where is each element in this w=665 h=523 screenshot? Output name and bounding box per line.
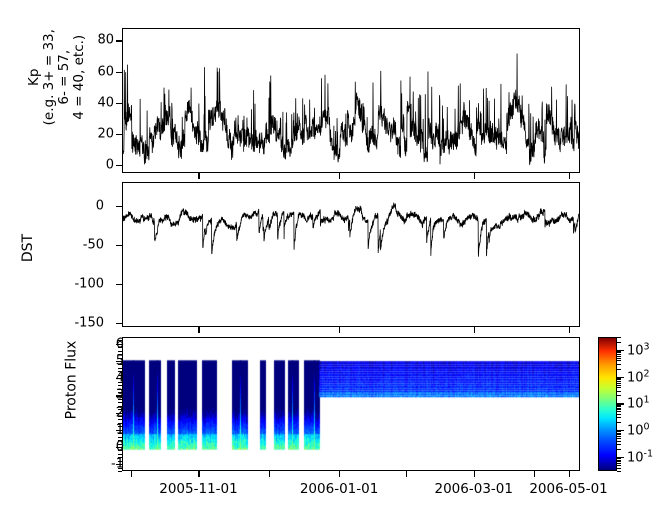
flux-ytick-minor: [118, 471, 122, 472]
colorbar-minor-tick: [617, 408, 621, 409]
colorbar-tick-label: 103: [627, 341, 650, 358]
kp-line: [123, 54, 579, 165]
colorbar-minor-tick: [617, 351, 621, 352]
colorbar-tick-label: 100: [627, 422, 650, 439]
flux-ytick-minor: [118, 368, 122, 369]
flux-ytick-mark: [116, 430, 122, 431]
colorbar-minor-tick: [617, 463, 621, 464]
flux-ytick-minor: [118, 437, 122, 438]
colorbar-minor-tick: [617, 441, 621, 442]
flux-ytick-minor: [118, 375, 122, 376]
flux-ytick-minor: [118, 461, 122, 462]
kp-ytick-mark: [116, 165, 122, 166]
kp-ytick-label: 0: [106, 159, 114, 172]
dst-axis-title: DST: [20, 234, 36, 262]
colorbar-minor-tick: [617, 434, 621, 435]
kp-ytick-mark: [116, 72, 122, 73]
colorbar-minor-tick: [617, 471, 621, 472]
x-tick-mark: [406, 471, 407, 477]
colorbar-minor-tick: [617, 381, 621, 382]
kp-ytick-mark: [116, 40, 122, 41]
flux-ytick-mark: [116, 464, 122, 465]
colorbar-minor-tick: [617, 438, 621, 439]
dst-ytick-mark: [116, 245, 122, 246]
flux-ytick-mark: [116, 447, 122, 448]
colorbar-minor-tick: [617, 405, 621, 406]
flux-ytick-minor: [118, 389, 122, 390]
flux-ytick-minor: [118, 385, 122, 386]
colorbar-minor-tick: [617, 444, 621, 445]
x-tick-mark: [269, 471, 270, 477]
dst-ytick-label: 0: [96, 199, 104, 212]
kp-ytick-mark: [116, 103, 122, 104]
colorbar-gradient: [598, 337, 617, 471]
colorbar-tick-label: 10-1: [627, 448, 653, 465]
colorbar-minor-tick: [617, 387, 621, 388]
colorbar-minor-tick: [617, 465, 621, 466]
flux-ytick-minor: [118, 423, 122, 424]
dst-ytick-label: -150: [74, 317, 104, 330]
x-tick-label: 2005-11-01: [159, 481, 237, 497]
flux-ytick-minor: [118, 457, 122, 458]
colorbar-minor-tick: [617, 409, 621, 410]
colorbar-minor-tick: [617, 383, 621, 384]
kp-axis-title-line-3: 4 = 40, etc.): [72, 17, 87, 137]
colorbar-minor-tick: [617, 395, 621, 396]
x-tick-mark: [131, 471, 132, 477]
x-tick-label: 2006-01-01: [300, 481, 378, 497]
interpanel-tick-mark: [198, 173, 199, 179]
colorbar-minor-tick: [617, 354, 621, 355]
x-tick-mark: [198, 471, 199, 477]
flux-ytick-minor: [118, 364, 122, 365]
colorbar-minor-tick: [617, 358, 621, 359]
proton-flux-spectrogram: [123, 338, 580, 471]
dst-ytick-label: -100: [74, 277, 104, 290]
colorbar-minor-tick: [617, 385, 621, 386]
flux-ytick-minor: [118, 392, 122, 393]
interpanel-tick-mark: [569, 173, 570, 179]
kp-axis-title: Kp (e.g. 3+ = 33, 6- = 57, 4 = 40, etc.): [27, 17, 87, 137]
interpanel-tick-mark: [474, 327, 475, 333]
interpanel-tick-mark: [339, 327, 340, 333]
x-tick-mark: [569, 471, 570, 477]
flux-ytick-mark: [116, 361, 122, 362]
colorbar-minor-tick: [617, 364, 621, 365]
flux-ytick-minor: [118, 440, 122, 441]
flux-ytick-minor: [118, 409, 122, 410]
kp-axis-title-line-2: 6- = 57,: [57, 17, 72, 137]
kp-ytick-label: 20: [97, 128, 114, 141]
kp-ytick-label: 40: [97, 96, 114, 109]
panel-flux: [122, 337, 580, 471]
x-tick-mark: [339, 471, 340, 477]
kp-ytick-label: 60: [97, 65, 114, 78]
kp-ytick-mark: [116, 134, 122, 135]
flux-ytick-minor: [118, 347, 122, 348]
flux-ytick-minor: [118, 371, 122, 372]
colorbar-minor-tick: [617, 414, 621, 415]
kp-axis-title-line-1: (e.g. 3+ = 33,: [42, 17, 57, 137]
flux-ytick-mark: [116, 395, 122, 396]
dst-ytick-label: -50: [83, 238, 104, 251]
flux-ytick-mark: [116, 413, 122, 414]
colorbar-tick-label: 101: [627, 395, 650, 412]
colorbar-minor-tick: [617, 406, 621, 407]
dst-ytick-mark: [116, 206, 122, 207]
colorbar-minor-tick: [617, 369, 621, 370]
interpanel-tick-mark: [569, 327, 570, 333]
flux-ytick-minor: [118, 358, 122, 359]
flux-ytick-minor: [118, 340, 122, 341]
panel-kp: [122, 28, 580, 173]
colorbar-minor-tick: [617, 422, 621, 423]
dst-y-axis-ticklabels: 0-50-100-150: [64, 182, 104, 327]
colorbar-minor-tick: [617, 468, 621, 469]
kp-axis-title-line-0: Kp: [27, 17, 42, 137]
colorbar-minor-tick: [617, 360, 621, 361]
flux-axis-title: Proton Flux: [63, 341, 79, 420]
colorbar-minor-tick: [617, 379, 621, 380]
colorbar-minor-tick: [617, 391, 621, 392]
colorbar-minor-tick: [617, 436, 621, 437]
interpanel-tick-mark: [339, 173, 340, 179]
x-tick-label: 2006-05-01: [529, 481, 607, 497]
dst-timeseries-plot: [123, 183, 579, 326]
flux-ytick-minor: [118, 444, 122, 445]
colorbar-minor-tick: [617, 378, 621, 379]
flux-ytick-minor: [118, 468, 122, 469]
x-tick-label: 2006-03-01: [435, 481, 513, 497]
dst-ytick-mark: [116, 284, 122, 285]
flux-ytick-minor: [118, 416, 122, 417]
flux-ytick-minor: [118, 402, 122, 403]
colorbar-minor-tick: [617, 458, 621, 459]
interpanel-tick-mark: [198, 327, 199, 333]
colorbar-tick-label: 102: [627, 368, 650, 385]
colorbar-minor-tick: [617, 449, 621, 450]
flux-ytick-minor: [118, 406, 122, 407]
panel-dst: [122, 182, 580, 327]
flux-ytick-minor: [118, 433, 122, 434]
colorbar-minor-tick: [617, 342, 621, 343]
colorbar-minor-tick: [617, 460, 621, 461]
flux-ytick-mark: [116, 344, 122, 345]
kp-ytick-label: 80: [97, 34, 114, 47]
colorbar-minor-tick: [617, 356, 621, 357]
flux-ytick-mark: [116, 378, 122, 379]
flux-ytick-minor: [118, 450, 122, 451]
kp-timeseries-plot: [123, 29, 579, 172]
colorbar-minor-tick: [617, 431, 621, 432]
colorbar-minor-tick: [617, 352, 621, 353]
flux-ytick-minor: [118, 419, 122, 420]
flux-ytick-minor: [118, 454, 122, 455]
colorbar-minor-tick: [617, 461, 621, 462]
colorbar-minor-tick: [617, 417, 621, 418]
colorbar-minor-tick: [617, 337, 621, 338]
x-tick-mark: [474, 471, 475, 477]
figure-canvas: 020406080 Kp (e.g. 3+ = 33, 6- = 57, 4 =…: [0, 0, 665, 523]
interpanel-tick-mark: [474, 173, 475, 179]
dst-line: [123, 203, 579, 256]
flux-ytick-minor: [118, 351, 122, 352]
colorbar-minor-tick: [617, 411, 621, 412]
colorbar-minor-tick: [617, 433, 621, 434]
x-tick-mark: [534, 471, 535, 477]
flux-ytick-minor: [118, 399, 122, 400]
flux-ytick-minor: [118, 426, 122, 427]
flux-ytick-minor: [118, 354, 122, 355]
flux-ytick-minor: [118, 382, 122, 383]
dst-ytick-mark: [116, 323, 122, 324]
